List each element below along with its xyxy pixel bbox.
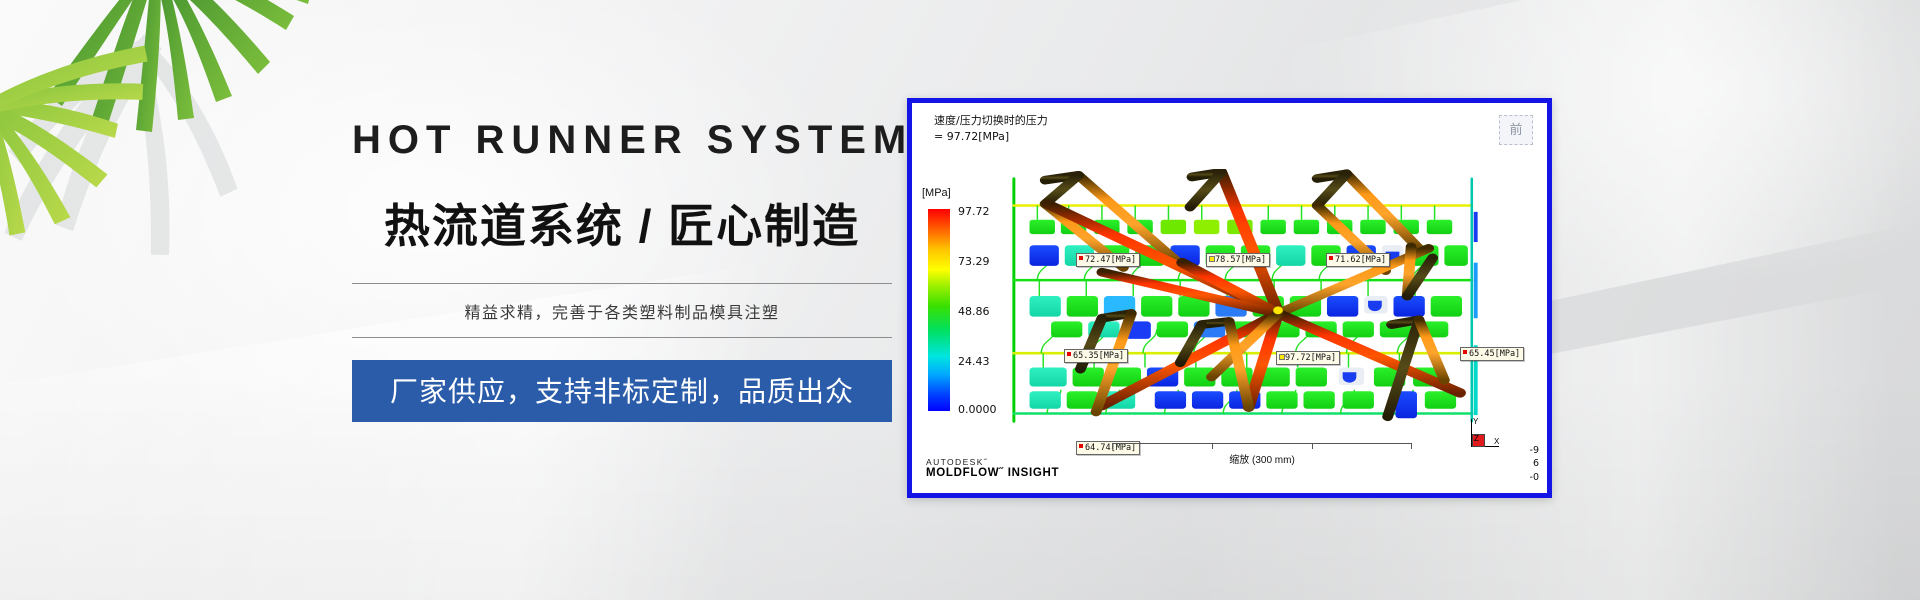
probe-label-3[interactable]: 71.62[MPa]: [1326, 253, 1390, 267]
scale-tick-0: [1112, 443, 1113, 449]
brand-moldflow-label: MOLDFLOW˝ INSIGHT: [926, 467, 1059, 481]
legend-tick-2: 48.86: [958, 305, 990, 318]
injection-node: [1273, 306, 1283, 314]
axis-triad-icon: Z Y X: [1461, 419, 1503, 459]
colorbar-gradient: [928, 209, 950, 411]
probe-label-2[interactable]: 78.57[MPa]: [1206, 253, 1270, 267]
scale-tick-1: [1212, 443, 1213, 449]
legend-tick-0: 97.72: [958, 205, 990, 218]
axis-y-label: Y: [1473, 417, 1478, 426]
runner-rods: [1045, 172, 1460, 417]
hero-english-title: HOT RUNNER SYSTEM: [352, 118, 892, 162]
coord-value-0: -9: [1530, 444, 1539, 458]
legend-unit-label: [MPa]: [922, 187, 1008, 199]
pressure-colorbar-legend: [MPa] 97.72 73.29 48.86 24.43 0.0000: [922, 187, 1008, 413]
palm-leaf-icon: [0, 0, 390, 310]
promo-banner[interactable]: 厂家供应，支持非标定制，品质出众: [352, 360, 892, 422]
coordinate-readout: -9 6 -0: [1530, 444, 1539, 485]
probe-label-4[interactable]: 65.35[MPa]: [1064, 349, 1128, 363]
axis-x-label: X: [1494, 437, 1499, 446]
legend-tick-1: 73.29: [958, 255, 990, 268]
legend-tick-4: 0.0000: [958, 403, 997, 416]
legend-tick-3: 24.43: [958, 355, 990, 368]
view-orientation-button[interactable]: 前: [1499, 115, 1533, 145]
probe-label-5[interactable]: 97.72[MPa]: [1276, 351, 1340, 365]
scale-tick-2: [1312, 443, 1313, 449]
hero-chinese-title: 热流道系统 / 匠心制造: [352, 200, 892, 253]
hero-text-block: HOT RUNNER SYSTEM 热流道系统 / 匠心制造 精益求精，完善于各…: [352, 118, 892, 422]
brand-autodesk-label: AUTODESK˝: [926, 457, 1059, 467]
scale-bar-label: 缩放 (300 mm): [1112, 451, 1412, 466]
divider-lower: [352, 337, 892, 338]
palm-leaf-decoration: [0, 0, 390, 310]
probe-label-1[interactable]: 72.47[MPa]: [1076, 253, 1140, 267]
figure-title: 速度/压力切换时的压力 = 97.72[MPa]: [934, 113, 1048, 145]
legend-body: 97.72 73.29 48.86 24.43 0.0000: [922, 205, 1008, 413]
runner-system-diagram: [1008, 169, 1507, 431]
axis-z-label: Z: [1474, 434, 1479, 443]
mold-model-plot[interactable]: 72.47[MPa] 78.57[MPa] 71.62[MPa] 65.35[M…: [1008, 169, 1507, 431]
scale-bar-line: [1112, 443, 1412, 444]
coord-value-1: 6: [1530, 457, 1539, 471]
autodesk-brand: AUTODESK˝ MOLDFLOW˝ INSIGHT: [926, 457, 1059, 481]
moldflow-canvas: 速度/压力切换时的压力 = 97.72[MPa] 前 [MPa] 97.72 7…: [912, 103, 1547, 493]
probe-label-6[interactable]: 65.45[MPa]: [1460, 347, 1524, 361]
hero-subtitle: 精益求精，完善于各类塑料制品模具注塑: [352, 284, 892, 337]
coord-value-2: -0: [1530, 471, 1539, 485]
scale-bar: 缩放 (300 mm): [1112, 443, 1412, 465]
moldflow-figure[interactable]: 速度/压力切换时的压力 = 97.72[MPa] 前 [MPa] 97.72 7…: [907, 98, 1552, 498]
scale-tick-3: [1411, 443, 1412, 449]
